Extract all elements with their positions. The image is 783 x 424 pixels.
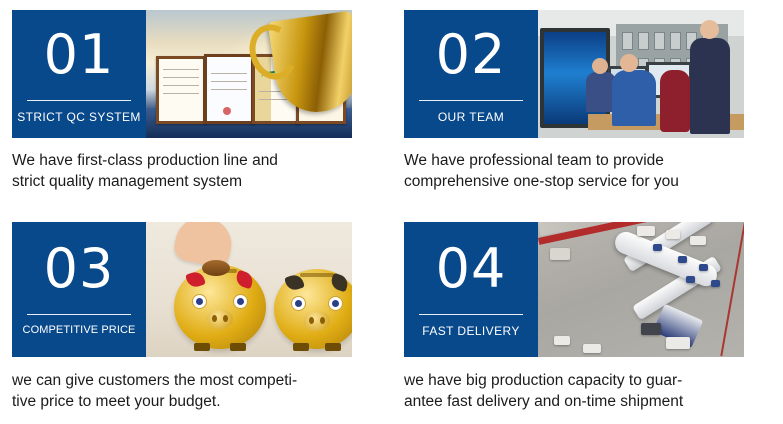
standing-supervisor xyxy=(690,38,730,134)
control-room-team-photo xyxy=(538,10,744,138)
cargo-dolly xyxy=(699,264,708,271)
feature-card-04: 04 FAST DELIVERY xyxy=(392,212,777,424)
cargo-dolly xyxy=(711,280,720,287)
badge-divider-rule xyxy=(419,314,523,315)
feature-card-03: 03 COMPETITIVE PRICE xyxy=(0,212,385,424)
card-01-number: 01 xyxy=(44,28,115,82)
card-01-badge: 01 STRICT QC SYSTEM xyxy=(12,10,146,138)
ground-vehicle xyxy=(637,226,655,236)
piggy-bank-right xyxy=(274,269,352,349)
badge-divider-rule xyxy=(419,100,523,101)
certificate-frame xyxy=(156,56,206,124)
card-04-caption-line1: we have big production capacity to guar- xyxy=(404,370,772,391)
card-01-media: 01 STRICT QC SYSTEM xyxy=(12,10,352,138)
certificates-and-trophy-photo xyxy=(146,10,352,138)
badge-divider-rule xyxy=(27,100,131,101)
cargo-dolly xyxy=(678,256,687,263)
card-02-label: OUR TEAM xyxy=(438,110,504,124)
card-03-badge: 03 COMPETITIVE PRICE xyxy=(12,222,146,357)
card-04-caption-line2: antee fast delivery and on-time shipment xyxy=(404,391,772,412)
ground-vehicle xyxy=(666,230,680,239)
badge-divider-rule xyxy=(27,314,131,315)
card-01-caption-line2: strict quality management system xyxy=(12,171,380,192)
card-03-caption-line1: we can give customers the most competi- xyxy=(12,370,380,391)
card-04-caption: we have big production capacity to guar-… xyxy=(404,370,772,412)
service-truck xyxy=(666,337,690,349)
card-01-caption: We have first-class production line and … xyxy=(12,150,380,192)
cargo-dolly xyxy=(686,276,695,283)
card-03-number: 03 xyxy=(44,242,115,296)
card-03-media: 03 COMPETITIVE PRICE xyxy=(12,222,352,357)
cargo-airplane-aerial-photo xyxy=(538,222,744,357)
certificate-frame xyxy=(204,54,254,124)
card-02-caption-line1: We have professional team to provide xyxy=(404,150,772,171)
card-03-label: COMPETITIVE PRICE xyxy=(23,324,136,336)
cargo-dolly xyxy=(653,244,662,251)
card-02-caption: We have professional team to provide com… xyxy=(404,150,772,192)
ground-vehicle xyxy=(690,236,706,245)
card-04-label: FAST DELIVERY xyxy=(422,324,519,338)
card-03-caption-line2: tive price to meet your budget. xyxy=(12,391,380,412)
card-03-caption: we can give customers the most competi- … xyxy=(12,370,380,412)
feature-card-01: 01 STRICT QC SYSTEM We have first-class … xyxy=(0,0,385,212)
card-02-caption-line2: comprehensive one-stop service for you xyxy=(404,171,772,192)
office-chair xyxy=(660,70,690,132)
ground-vehicle xyxy=(583,344,601,353)
feature-card-02: 02 OUR TEAM xyxy=(392,0,777,212)
card-02-media: 02 OUR TEAM xyxy=(404,10,744,138)
card-02-badge: 02 OUR TEAM xyxy=(404,10,538,138)
card-04-media: 04 FAST DELIVERY xyxy=(404,222,744,357)
card-04-number: 04 xyxy=(436,242,507,296)
card-02-number: 02 xyxy=(436,28,507,82)
card-04-badge: 04 FAST DELIVERY xyxy=(404,222,538,357)
seated-operator xyxy=(612,70,656,126)
card-01-label: STRICT QC SYSTEM xyxy=(17,110,141,124)
service-truck xyxy=(641,323,661,335)
apron-red-line xyxy=(720,223,744,356)
piggy-bank-left xyxy=(174,265,266,349)
ground-vehicle xyxy=(554,336,570,345)
golden-piggy-banks-photo xyxy=(146,222,352,357)
feature-grid: 01 STRICT QC SYSTEM We have first-class … xyxy=(0,0,783,423)
jet-bridge xyxy=(550,248,570,260)
coin xyxy=(202,260,230,276)
card-01-caption-line1: We have first-class production line and xyxy=(12,150,380,171)
